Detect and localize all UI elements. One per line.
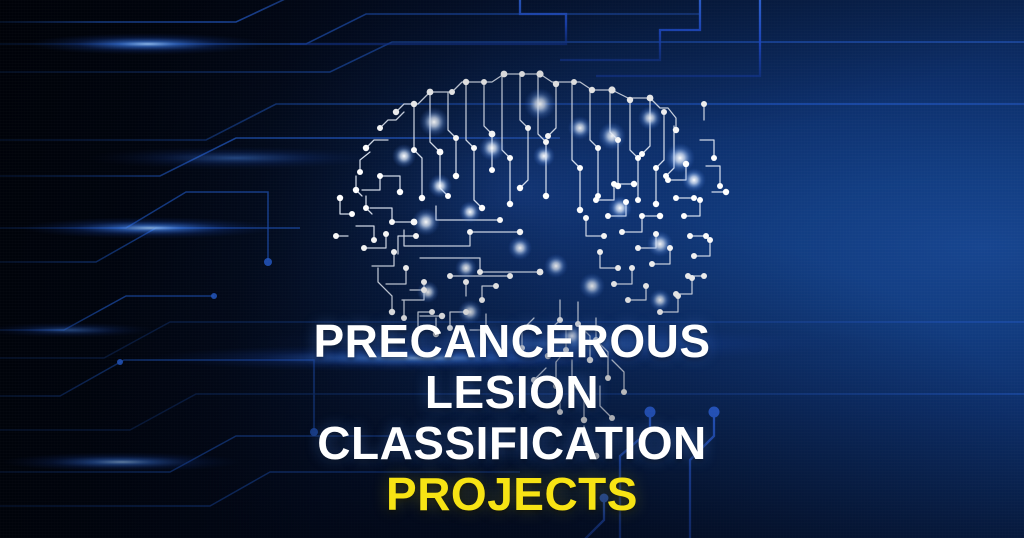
title-line-4-accent: PROJECTS (0, 469, 1024, 520)
title-line-2: LESION (0, 367, 1024, 418)
title-line-1: PRECANCEROUS (0, 316, 1024, 367)
title-block: PRECANCEROUS LESION CLASSIFICATION PROJE… (0, 316, 1024, 520)
title-line-3: CLASSIFICATION (0, 418, 1024, 469)
banner-root: PRECANCEROUS LESION CLASSIFICATION PROJE… (0, 0, 1024, 538)
